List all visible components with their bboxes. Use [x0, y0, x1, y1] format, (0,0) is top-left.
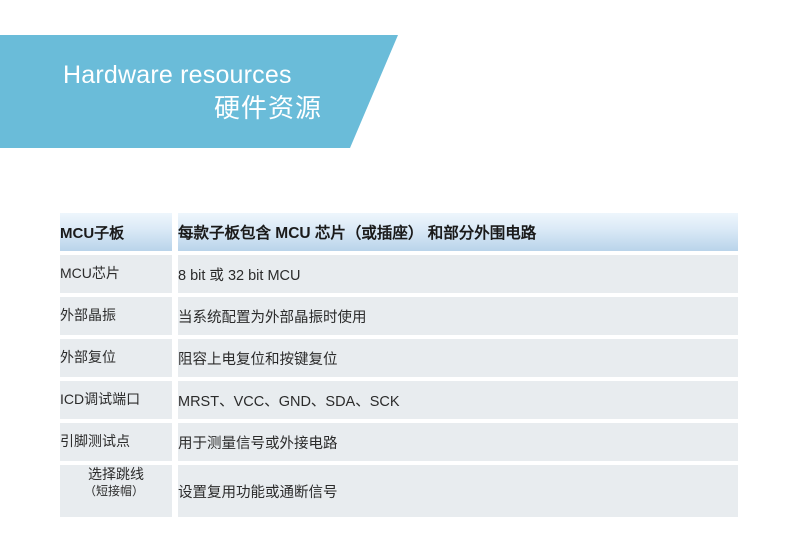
table-row: 选择跳线 （短接帽） 设置复用功能或通断信号	[60, 465, 738, 517]
table-row: 外部复位 阻容上电复位和按键复位	[60, 339, 738, 377]
table-body: MCU子板 每款子板包含 MCU 芯片（或插座） 和部分外围电路 MCU芯片 8…	[60, 213, 738, 517]
row-value: MRST、VCC、GND、SDA、SCK	[178, 381, 738, 419]
row-label: 外部晶振	[60, 297, 172, 335]
row-label-stack: 选择跳线 （短接帽）	[60, 466, 172, 515]
header-cell-value: 每款子板包含 MCU 芯片（或插座） 和部分外围电路	[178, 213, 738, 251]
table-row: ICD调试端口 MRST、VCC、GND、SDA、SCK	[60, 381, 738, 419]
table-row: MCU芯片 8 bit 或 32 bit MCU	[60, 255, 738, 293]
table-row: 外部晶振 当系统配置为外部晶振时使用	[60, 297, 738, 335]
banner-text-block: Hardware resources 硬件资源	[0, 35, 324, 148]
page-banner: Hardware resources 硬件资源	[0, 35, 400, 148]
row-value: 8 bit 或 32 bit MCU	[178, 255, 738, 293]
hardware-resources-table: MCU子板 每款子板包含 MCU 芯片（或插座） 和部分外围电路 MCU芯片 8…	[60, 213, 738, 517]
row-label-main: 选择跳线	[60, 466, 172, 484]
row-label: 选择跳线 （短接帽）	[60, 465, 172, 517]
banner-title-chinese: 硬件资源	[63, 91, 324, 125]
row-label: 外部复位	[60, 339, 172, 377]
row-label: 引脚测试点	[60, 423, 172, 461]
row-value: 设置复用功能或通断信号	[178, 465, 738, 517]
table-row: 引脚测试点 用于测量信号或外接电路	[60, 423, 738, 461]
row-label-sub: （短接帽）	[60, 484, 172, 499]
row-value: 阻容上电复位和按键复位	[178, 339, 738, 377]
row-value: 用于测量信号或外接电路	[178, 423, 738, 461]
row-value: 当系统配置为外部晶振时使用	[178, 297, 738, 335]
row-label: MCU芯片	[60, 255, 172, 293]
row-label: ICD调试端口	[60, 381, 172, 419]
banner-title-english: Hardware resources	[63, 59, 324, 91]
table-header-row: MCU子板 每款子板包含 MCU 芯片（或插座） 和部分外围电路	[60, 213, 738, 251]
header-cell-label: MCU子板	[60, 213, 172, 251]
